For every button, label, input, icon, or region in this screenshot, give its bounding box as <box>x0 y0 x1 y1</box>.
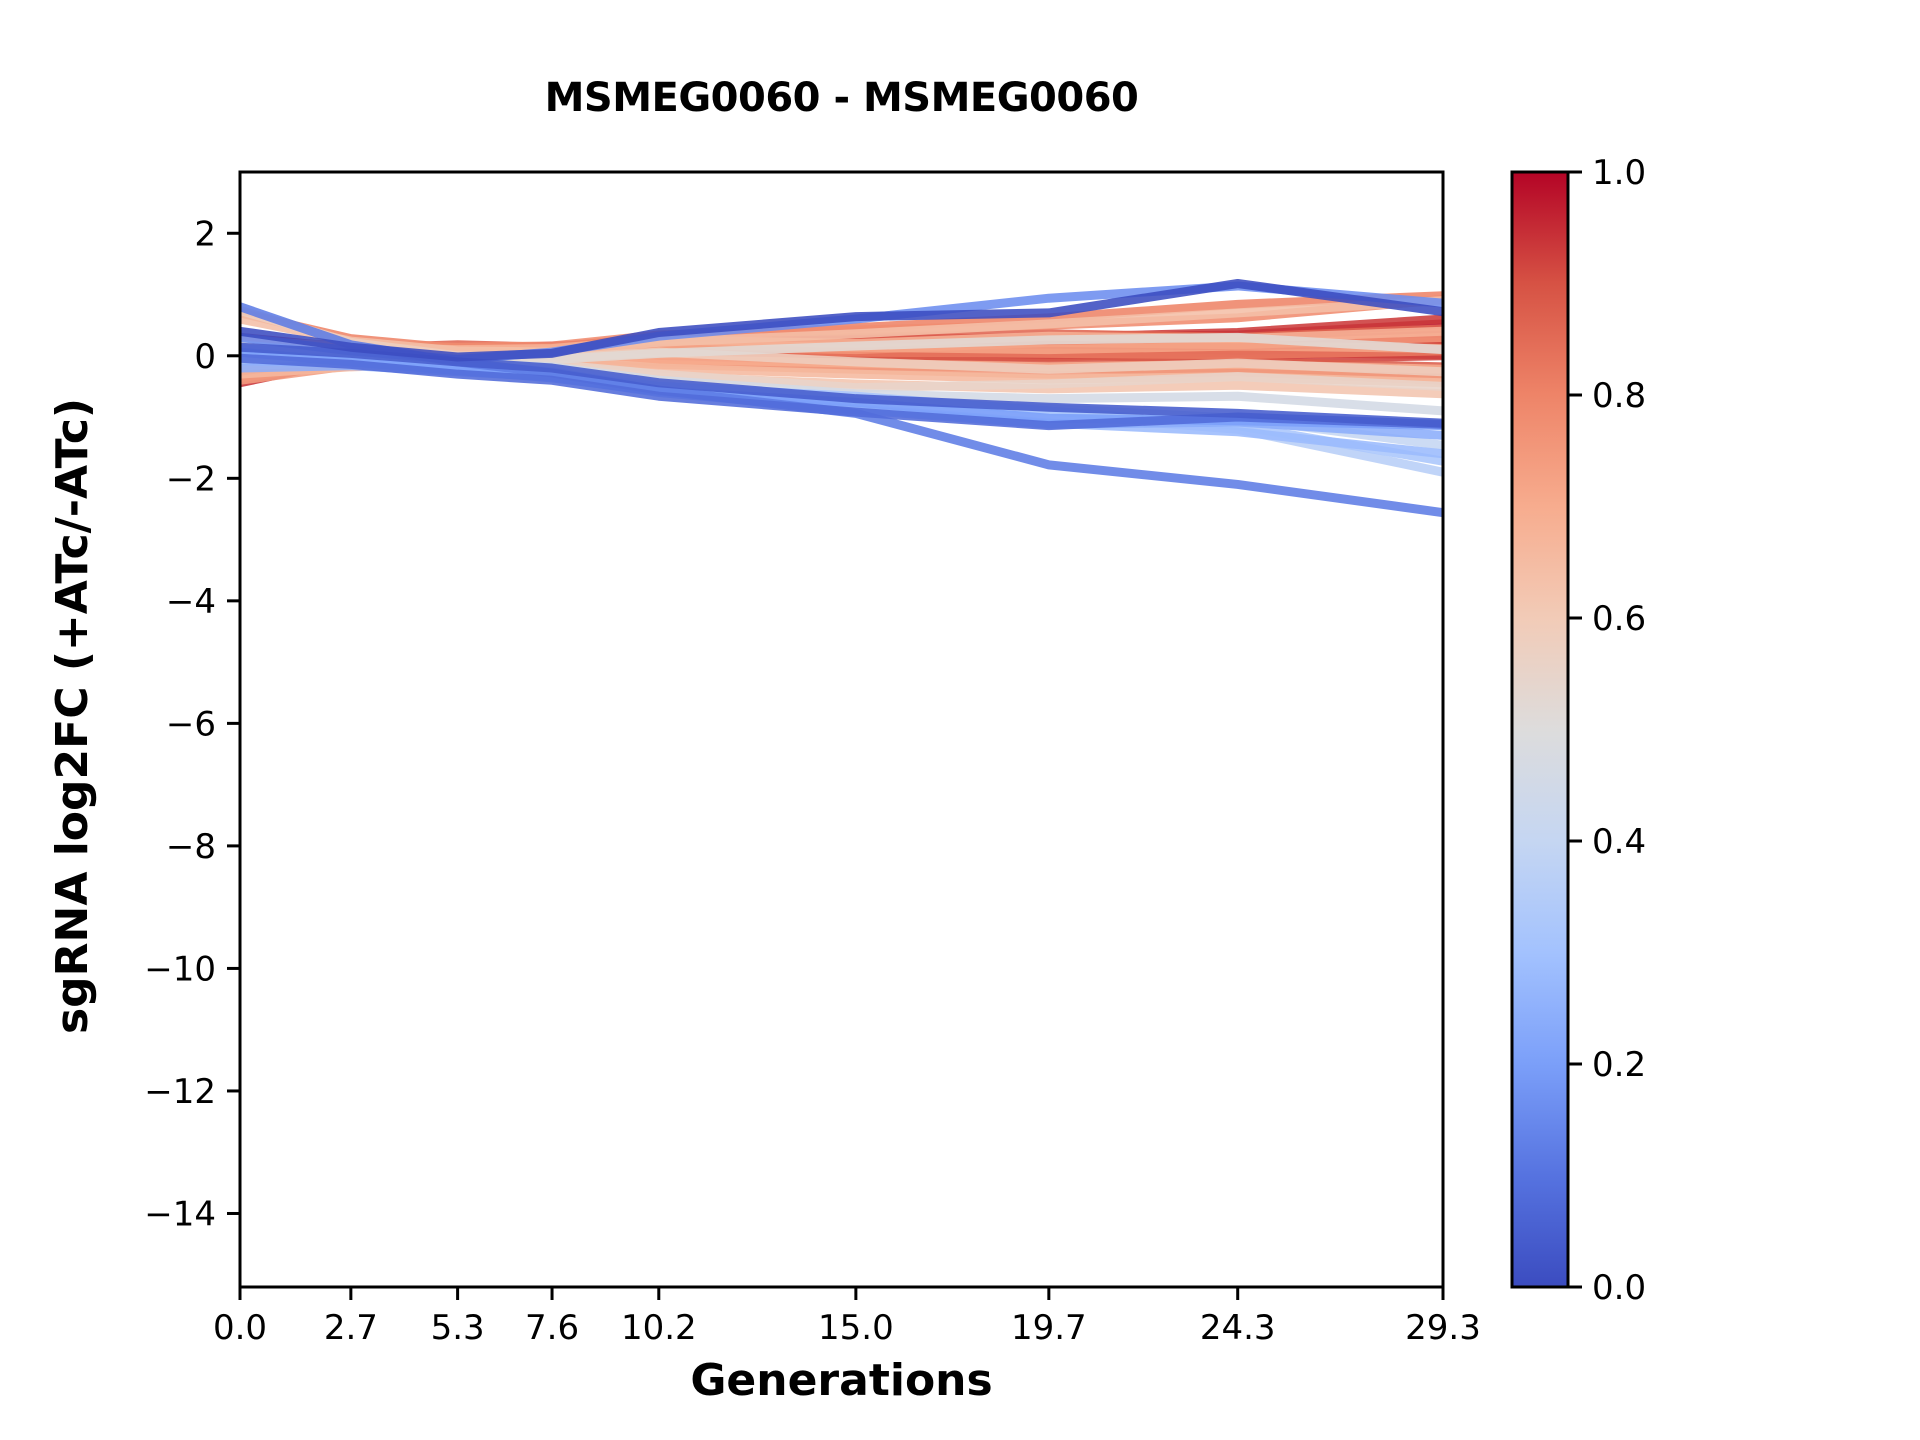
colorbar-tick-label: 0.0 <box>1592 1268 1646 1308</box>
colorbar-tick-label: 0.2 <box>1592 1045 1646 1085</box>
y-axis-ticks: 20−2−4−6−8−10−12−14 <box>144 214 240 1234</box>
x-tick-label: 10.2 <box>621 1308 697 1348</box>
x-tick-label: 2.7 <box>324 1308 378 1348</box>
x-axis-ticks: 0.02.75.37.610.215.019.724.329.3 <box>213 1287 1481 1348</box>
figure-root: MSMEG0060 - MSMEG0060 sgRNA log2FC (+ATc… <box>0 0 1920 1440</box>
y-tick-label: −12 <box>144 1072 216 1112</box>
x-tick-label: 0.0 <box>213 1308 267 1348</box>
y-tick-label: −2 <box>166 459 216 499</box>
colorbar-tick-label: 0.8 <box>1592 376 1646 416</box>
y-tick-label: −4 <box>166 582 216 622</box>
y-tick-label: −10 <box>144 949 216 989</box>
colorbar-tick-label: 1.0 <box>1592 153 1646 193</box>
colorbar-ticks: 0.00.20.40.60.81.0 <box>1568 153 1646 1308</box>
x-tick-label: 29.3 <box>1405 1308 1481 1348</box>
x-tick-label: 15.0 <box>818 1308 894 1348</box>
chart-canvas: 0.02.75.37.610.215.019.724.329.3 20−2−4−… <box>0 0 1920 1440</box>
x-tick-label: 5.3 <box>431 1308 485 1348</box>
x-tick-label: 7.6 <box>525 1308 579 1348</box>
colorbar-tick-label: 0.4 <box>1592 822 1646 862</box>
colorbar-tick-label: 0.6 <box>1592 599 1646 639</box>
y-tick-label: −6 <box>166 704 216 744</box>
x-tick-label: 19.7 <box>1011 1308 1087 1348</box>
y-tick-label: −14 <box>144 1194 216 1234</box>
y-tick-label: −8 <box>166 827 216 867</box>
y-tick-label: 0 <box>194 337 216 377</box>
y-tick-label: 2 <box>194 214 216 254</box>
colorbar <box>1512 172 1568 1287</box>
x-tick-label: 24.3 <box>1200 1308 1276 1348</box>
